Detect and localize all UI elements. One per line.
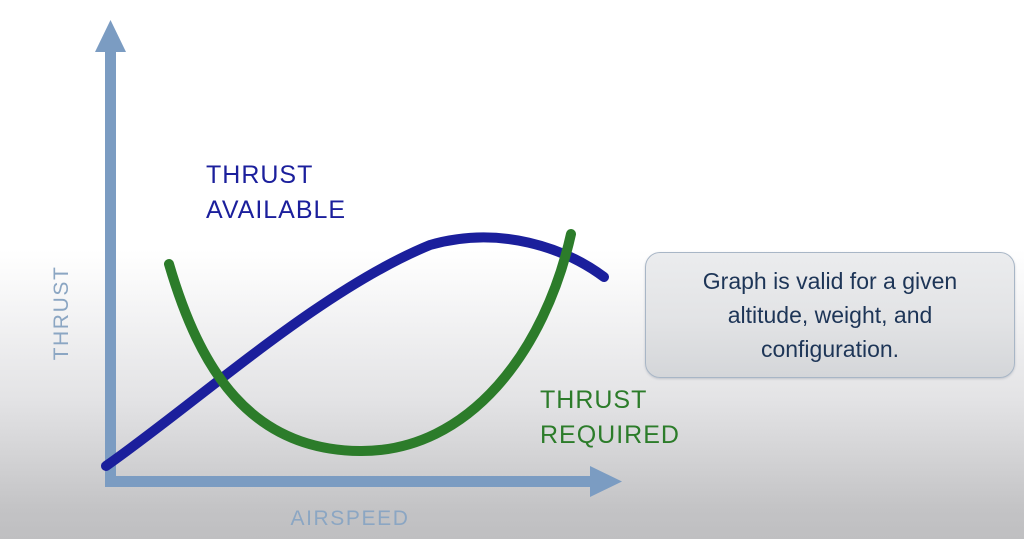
x-axis-label: AIRSPEED xyxy=(250,507,450,531)
y-axis-arrow xyxy=(95,20,126,482)
callout-text: Graph is valid for a given altitude, wei… xyxy=(646,264,1014,366)
y-axis-label: THRUST xyxy=(50,248,74,378)
slide-canvas: THRUST AIRSPEED THRUST AVAILABLE THRUST … xyxy=(0,0,1024,539)
thrust-available-label: THRUST AVAILABLE xyxy=(206,158,346,228)
thrust-available-curve xyxy=(106,237,604,466)
callout-box: Graph is valid for a given altitude, wei… xyxy=(645,252,1015,378)
thrust-required-label: THRUST REQUIRED xyxy=(540,383,680,453)
x-axis-arrow xyxy=(105,466,622,497)
thrust-required-curve xyxy=(169,234,571,451)
